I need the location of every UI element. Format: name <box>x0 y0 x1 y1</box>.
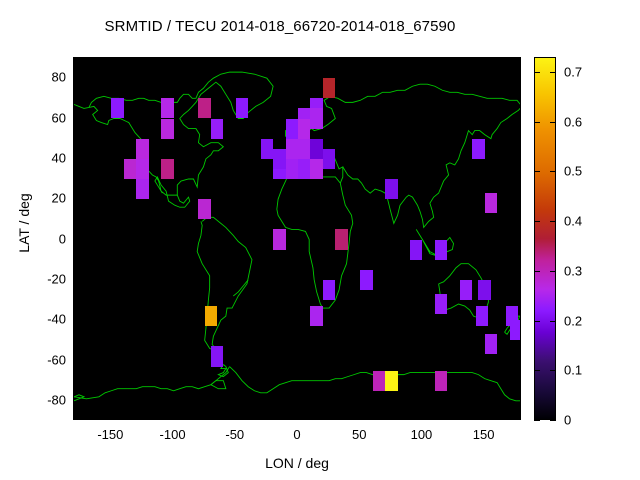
colorbar <box>534 57 556 420</box>
data-cell <box>460 280 472 300</box>
y-tick-label: 0 <box>59 231 66 246</box>
y-tick-label: -40 <box>47 312 66 327</box>
colorbar-tick-mark <box>550 72 556 73</box>
x-tick-label: -100 <box>160 427 186 442</box>
data-cell <box>360 270 372 290</box>
y-tick-label: 60 <box>52 110 66 125</box>
y-axis-ticks: 806040200-20-40-60-80 <box>0 0 66 480</box>
colorbar-tick-label: 0.7 <box>564 64 582 79</box>
data-cell <box>161 159 173 179</box>
y-tick-label: -60 <box>47 352 66 367</box>
data-cell <box>286 159 298 179</box>
data-cell <box>373 371 385 391</box>
data-cell <box>136 139 148 159</box>
data-cell <box>298 119 310 139</box>
data-cell <box>435 371 447 391</box>
data-cell <box>435 240 447 260</box>
colorbar-tick-mark <box>534 171 540 172</box>
colorbar-tick-label: 0.1 <box>564 363 582 378</box>
y-tick-label: 80 <box>52 70 66 85</box>
x-tick-label: 100 <box>411 427 433 442</box>
data-cell <box>335 229 347 249</box>
colorbar-tick-label: 0.4 <box>564 214 582 229</box>
colorbar-tick-mark <box>550 171 556 172</box>
data-cell <box>323 280 335 300</box>
figure-canvas: SRMTID / TECU 2014-018_66720-2014-018_67… <box>0 0 640 480</box>
colorbar-tick-mark <box>534 72 540 73</box>
data-cell <box>310 139 322 159</box>
data-cell <box>510 320 521 340</box>
data-cell <box>472 139 484 159</box>
chart-title: SRMTID / TECU 2014-018_66720-2014-018_67… <box>0 18 560 35</box>
data-cell-layer <box>74 58 521 420</box>
y-tick-label: -80 <box>47 392 66 407</box>
data-cell <box>111 98 123 118</box>
data-cell <box>298 159 310 179</box>
data-cell <box>198 199 210 219</box>
colorbar-tick-label: 0 <box>564 413 571 428</box>
y-tick-label: -20 <box>47 271 66 286</box>
data-cell <box>476 306 488 326</box>
colorbar-tick-mark <box>550 271 556 272</box>
colorbar-tick-mark <box>534 321 540 322</box>
data-cell <box>136 159 148 179</box>
y-axis-label: LAT / deg <box>16 133 32 313</box>
data-cell <box>485 193 497 213</box>
data-cell <box>273 149 285 169</box>
x-tick-label: 0 <box>293 427 300 442</box>
data-cell <box>298 139 310 159</box>
data-cell <box>310 108 322 128</box>
colorbar-tick-mark <box>550 370 556 371</box>
x-tick-label: 50 <box>352 427 366 442</box>
data-cell <box>410 240 422 260</box>
data-cell <box>286 119 298 139</box>
data-cell <box>198 98 210 118</box>
x-tick-label: 150 <box>473 427 495 442</box>
colorbar-tick-label: 0.6 <box>564 114 582 129</box>
plot-area <box>73 57 521 420</box>
colorbar-tick-label: 0.3 <box>564 263 582 278</box>
data-cell <box>323 78 335 98</box>
y-tick-label: 20 <box>52 191 66 206</box>
data-cell <box>435 294 447 314</box>
colorbar-tick-mark <box>534 420 540 421</box>
colorbar-gradient <box>535 58 555 419</box>
colorbar-tick-mark <box>550 420 556 421</box>
data-cell <box>124 159 136 179</box>
colorbar-tick-mark <box>534 271 540 272</box>
colorbar-tick-mark <box>550 321 556 322</box>
data-cell <box>236 98 248 118</box>
x-axis-label: LON / deg <box>73 455 521 471</box>
colorbar-tick-mark <box>550 122 556 123</box>
data-cell <box>485 334 497 354</box>
data-cell <box>161 98 173 118</box>
colorbar-tick-label: 0.5 <box>564 164 582 179</box>
data-cell <box>261 139 273 159</box>
colorbar-tick-mark <box>550 221 556 222</box>
colorbar-tick-mark <box>534 221 540 222</box>
data-cell <box>211 346 223 366</box>
data-cell <box>211 119 223 139</box>
data-cell <box>310 159 322 179</box>
x-tick-label: -50 <box>225 427 244 442</box>
data-cell <box>286 139 298 159</box>
data-cell <box>323 149 335 169</box>
data-cell <box>273 229 285 249</box>
colorbar-tick-mark <box>534 122 540 123</box>
colorbar-tick-label: 0.2 <box>564 313 582 328</box>
data-cell <box>205 306 217 326</box>
data-cell <box>136 179 148 199</box>
data-cell <box>385 179 397 199</box>
x-tick-label: -150 <box>97 427 123 442</box>
data-cell <box>310 306 322 326</box>
colorbar-tick-mark <box>534 370 540 371</box>
data-cell <box>478 280 490 300</box>
y-tick-label: 40 <box>52 150 66 165</box>
data-cell <box>385 371 397 391</box>
data-cell <box>161 119 173 139</box>
